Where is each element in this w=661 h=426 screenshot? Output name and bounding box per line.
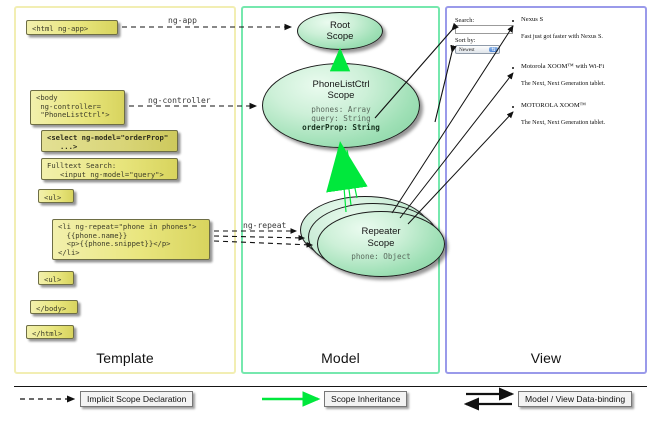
view-sort-value: Newest <box>459 47 475 53</box>
code-box-input-tag: Fulltext Search: <input ng-model="query"… <box>41 158 178 180</box>
view-search-label: Search: <box>455 17 474 24</box>
view-search-input[interactable] <box>455 25 513 34</box>
diagram-canvas: Template Model View <html ng-app> <body … <box>0 0 661 425</box>
legend: Implicit Scope Declaration Scope Inherit… <box>14 386 647 419</box>
scope-root-title: Root Scope <box>327 20 354 43</box>
column-model: Model <box>241 6 440 374</box>
view-phone-snippet: Fast just got faster with Nexus S. <box>521 33 603 40</box>
view-phone-snippet: The Next, Next Generation tablet. <box>521 119 605 126</box>
code-box-ul-close-tag: <ul> <box>38 271 74 285</box>
code-box-body-tag: <body ng-controller= "PhoneListCtrl"> <box>30 90 125 125</box>
view-sort-select[interactable]: Newest ⇅ <box>455 45 500 54</box>
scope-phonelistctrl-props: phones: Array query: String orderProp: S… <box>302 105 380 133</box>
edge-label-ng-repeat: ng-repeat <box>243 221 286 230</box>
scope-root: Root Scope <box>297 12 383 50</box>
code-box-select-tag: <select ng-model="orderProp" ...> <box>41 130 178 152</box>
edge-label-ng-controller: ng-controller <box>148 96 211 105</box>
code-box-body-close-tag: </body> <box>30 300 78 314</box>
edge-label-ng-app: ng-app <box>168 16 197 25</box>
legend-label-data-binding: Model / View Data-binding <box>518 391 632 407</box>
view-sort-label: Sort by: <box>455 37 475 44</box>
scope-phonelistctrl: PhoneListCtrl Scope phones: Array query:… <box>262 63 420 148</box>
view-phone-name[interactable]: Nexus S <box>521 16 543 23</box>
scope-repeater-props: phone: Object <box>351 252 410 261</box>
column-view: View <box>445 6 647 374</box>
legend-label-scope-inheritance: Scope Inheritance <box>324 391 407 407</box>
chevron-updown-icon: ⇅ <box>489 47 498 52</box>
scope-repeater-title: Repeater Scope <box>361 226 400 249</box>
view-phone-name[interactable]: Motorola XOOM™ with Wi-Fi <box>521 63 604 70</box>
code-box-li-repeat-tag: <li ng-repeat="phone in phones"> {{phone… <box>52 219 210 260</box>
view-phone-name[interactable]: MOTOROLA XOOM™ <box>521 102 586 109</box>
code-box-ul-open-tag: <ul> <box>38 189 74 203</box>
legend-label-implicit-scope-declaration: Implicit Scope Declaration <box>80 391 193 407</box>
column-label-view: View <box>447 350 645 366</box>
view-phone-snippet: The Next, Next Generation tablet. <box>521 80 605 87</box>
column-label-template: Template <box>16 350 234 366</box>
scope-repeater: Repeater Scope phone: Object <box>317 211 445 277</box>
code-box-html-tag: <html ng-app> <box>26 20 118 35</box>
column-label-model: Model <box>243 350 438 366</box>
code-box-html-close-tag: </html> <box>26 325 74 339</box>
scope-phonelistctrl-title: PhoneListCtrl Scope <box>312 79 369 102</box>
